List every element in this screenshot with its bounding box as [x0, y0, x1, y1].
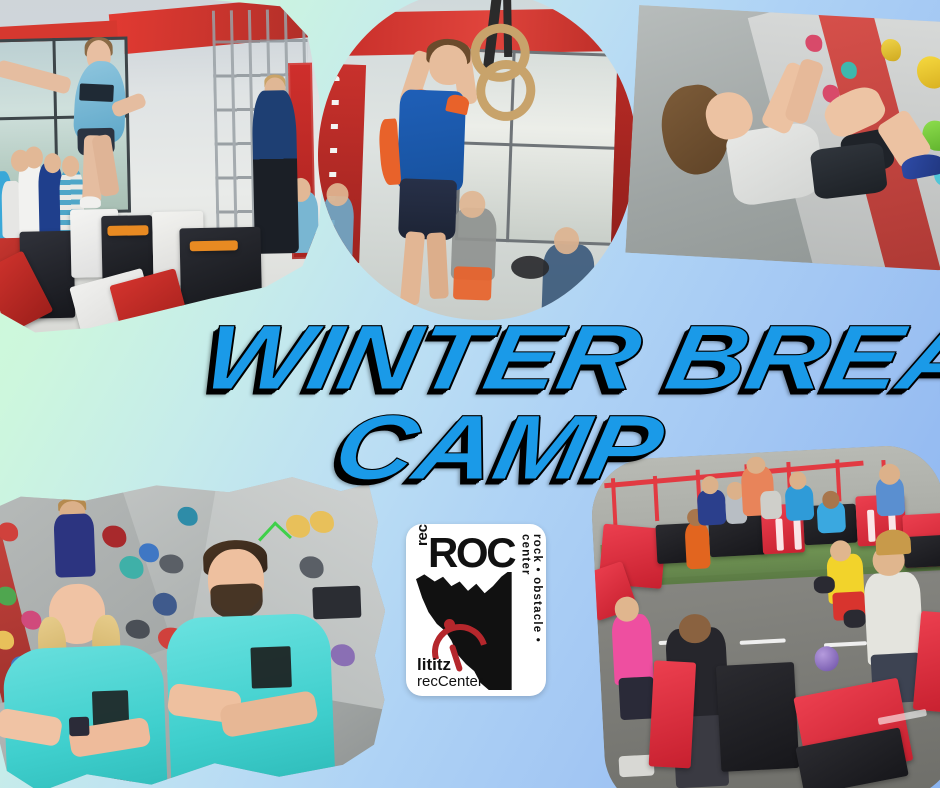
photo-ninja-pit — [589, 443, 940, 788]
photo-bouldering-girl — [625, 5, 940, 271]
headline-line-1: WINTER BREAK — [196, 312, 940, 404]
poster-canvas: WINTER BREAK CAMP rec ROC rock • obstacl… — [0, 0, 940, 788]
logo-tagline: rock • obstacle • center — [519, 534, 542, 684]
photo-gymnastics-rings — [312, 0, 641, 325]
logo-org-name: lititz — [417, 656, 451, 673]
recroc-logo: rec ROC rock • obstacle • center lititz … — [406, 524, 546, 696]
photo-staff-pair — [0, 471, 392, 788]
logo-org-sub: recCenter — [417, 674, 483, 689]
logo-wordmark: ROC — [428, 532, 514, 574]
photo-gym-plyo-boxes — [0, 0, 328, 334]
runner-figure-head-icon — [444, 619, 455, 630]
